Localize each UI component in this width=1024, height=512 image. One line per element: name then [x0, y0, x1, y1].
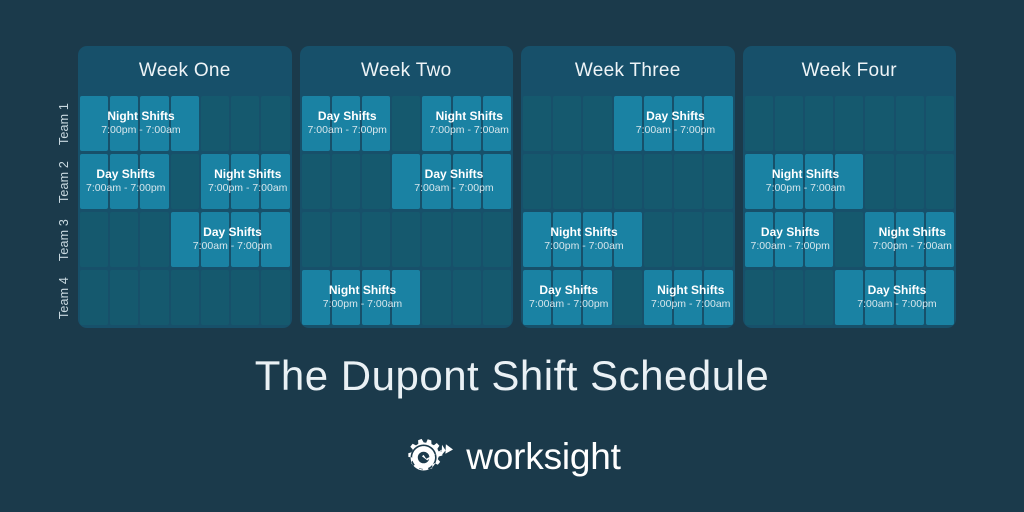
day-cell-4-off[interactable] [835, 96, 863, 151]
day-cell-4-off[interactable] [171, 270, 199, 325]
day-cell-1-off[interactable] [523, 96, 551, 151]
brand-logo: worksight [0, 432, 1024, 481]
day-cell-2-off[interactable] [332, 212, 360, 267]
day-cell-3-night[interactable] [140, 96, 168, 151]
day-cell-5-day[interactable] [644, 96, 672, 151]
day-cell-3-day[interactable] [583, 270, 611, 325]
day-cell-4-off[interactable] [392, 212, 420, 267]
day-cell-2-off[interactable] [775, 270, 803, 325]
day-cell-4-day[interactable] [171, 212, 199, 267]
team-label-1: Team 1 [57, 94, 71, 154]
week-rows: Day Shifts7:00am - 7:00pmNight Shifts7:0… [300, 96, 514, 328]
day-cell-2-off[interactable] [553, 154, 581, 209]
day-cell-3-night[interactable] [583, 212, 611, 267]
day-cell-6-night[interactable] [896, 212, 924, 267]
day-cell-7-day[interactable] [261, 212, 289, 267]
day-cell-6-night[interactable] [231, 154, 259, 209]
week-title: Week Two [300, 46, 514, 96]
day-cell-6-off[interactable] [453, 270, 481, 325]
day-cell-2-off[interactable] [553, 96, 581, 151]
day-cell-2-off[interactable] [110, 212, 138, 267]
day-cell-1-night[interactable] [745, 154, 773, 209]
day-cell-5-day[interactable] [422, 154, 450, 209]
day-cell-3-day[interactable] [140, 154, 168, 209]
team-row: Night Shifts7:00pm - 7:00am [78, 96, 292, 151]
day-cell-7-day[interactable] [704, 96, 732, 151]
day-cell-5-off[interactable] [865, 96, 893, 151]
day-cell-4-off[interactable] [614, 270, 642, 325]
day-cell-3-night[interactable] [362, 270, 390, 325]
day-cell-6-day[interactable] [231, 212, 259, 267]
day-cell-1-off[interactable] [745, 270, 773, 325]
day-cell-5-off[interactable] [865, 154, 893, 209]
week-panel-1[interactable]: Week OneNight Shifts7:00pm - 7:00amDay S… [78, 46, 292, 328]
day-cell-7-off[interactable] [926, 154, 954, 209]
day-cell-6-off[interactable] [674, 212, 702, 267]
week-panel-3[interactable]: Week ThreeDay Shifts7:00am - 7:00pmNight… [521, 46, 735, 328]
day-cell-7-off[interactable] [483, 270, 511, 325]
day-cell-2-night[interactable] [553, 212, 581, 267]
day-cell-6-night[interactable] [674, 270, 702, 325]
day-cell-1-night[interactable] [523, 212, 551, 267]
day-cell-7-day[interactable] [926, 270, 954, 325]
team-row [78, 270, 292, 325]
day-cell-1-day[interactable] [80, 154, 108, 209]
day-cell-1-off[interactable] [80, 212, 108, 267]
day-cell-7-off[interactable] [261, 270, 289, 325]
day-cell-6-off[interactable] [896, 96, 924, 151]
day-cell-3-off[interactable] [140, 212, 168, 267]
team-label-3: Team 3 [57, 210, 71, 270]
team-row: Night Shifts7:00pm - 7:00am [521, 212, 735, 267]
day-cell-2-night[interactable] [775, 154, 803, 209]
day-cell-5-off[interactable] [644, 212, 672, 267]
day-cell-3-off[interactable] [362, 154, 390, 209]
team-row: Day Shifts7:00am - 7:00pm [743, 270, 957, 325]
day-cell-4-night[interactable] [171, 96, 199, 151]
team-row: Day Shifts7:00am - 7:00pm [300, 154, 514, 209]
team-row: Day Shifts7:00am - 7:00pmNight Shifts7:0… [521, 270, 735, 325]
week-panels-container: Week OneNight Shifts7:00pm - 7:00amDay S… [78, 46, 956, 328]
day-cell-1-off[interactable] [80, 270, 108, 325]
week-panel-2[interactable]: Week TwoDay Shifts7:00am - 7:00pmNight S… [300, 46, 514, 328]
team-row: Night Shifts7:00pm - 7:00am [743, 154, 957, 209]
day-cell-2-night[interactable] [110, 96, 138, 151]
day-cell-7-off[interactable] [704, 212, 732, 267]
day-cell-1-off[interactable] [302, 212, 330, 267]
gear-arrow-icon [403, 432, 455, 481]
day-cell-6-off[interactable] [231, 96, 259, 151]
day-cell-5-off[interactable] [201, 96, 229, 151]
day-cell-5-day[interactable] [201, 212, 229, 267]
team-row: Day Shifts7:00am - 7:00pmNight Shifts7:0… [300, 96, 514, 151]
day-cell-6-day[interactable] [674, 96, 702, 151]
day-cell-6-night[interactable] [453, 96, 481, 151]
team-row: Day Shifts7:00am - 7:00pmNight Shifts7:0… [743, 212, 957, 267]
team-label-4: Team 4 [57, 268, 71, 328]
day-cell-1-night[interactable] [302, 270, 330, 325]
day-cell-6-off[interactable] [453, 212, 481, 267]
day-cell-4-off[interactable] [171, 154, 199, 209]
day-cell-7-night[interactable] [926, 212, 954, 267]
day-cell-6-off[interactable] [674, 154, 702, 209]
day-cell-5-night[interactable] [865, 212, 893, 267]
day-cell-3-off[interactable] [140, 270, 168, 325]
week-rows: Night Shifts7:00pm - 7:00amDay Shifts7:0… [743, 96, 957, 328]
day-cell-4-day[interactable] [392, 154, 420, 209]
day-cell-3-night[interactable] [805, 154, 833, 209]
day-cell-3-off[interactable] [805, 270, 833, 325]
day-cell-3-day[interactable] [805, 212, 833, 267]
day-cell-7-night[interactable] [704, 270, 732, 325]
team-row: Day Shifts7:00am - 7:00pmNight Shifts7:0… [78, 154, 292, 209]
day-cell-7-off[interactable] [261, 96, 289, 151]
team-row [743, 96, 957, 151]
day-cell-1-off[interactable] [745, 96, 773, 151]
day-cell-5-off[interactable] [422, 270, 450, 325]
day-cell-2-off[interactable] [110, 270, 138, 325]
week-title: Week One [78, 46, 292, 96]
day-cell-4-day[interactable] [614, 96, 642, 151]
shift-schedule-board: Team 1Team 2Team 3Team 4 Week OneNight S… [50, 46, 956, 328]
day-cell-7-off[interactable] [704, 154, 732, 209]
day-cell-4-night[interactable] [392, 270, 420, 325]
day-cell-2-off[interactable] [775, 96, 803, 151]
page-title: The Dupont Shift Schedule [0, 352, 1024, 400]
day-cell-2-day[interactable] [332, 96, 360, 151]
day-cell-5-night[interactable] [644, 270, 672, 325]
day-cell-1-off[interactable] [523, 154, 551, 209]
day-cell-5-night[interactable] [422, 96, 450, 151]
team-row [300, 212, 514, 267]
team-labels-gutter: Team 1Team 2Team 3Team 4 [50, 46, 78, 328]
day-cell-1-day[interactable] [302, 96, 330, 151]
day-cell-7-night[interactable] [261, 154, 289, 209]
day-cell-1-day[interactable] [745, 212, 773, 267]
day-cell-6-day[interactable] [896, 270, 924, 325]
week-panel-4[interactable]: Week FourNight Shifts7:00pm - 7:00amDay … [743, 46, 957, 328]
day-cell-3-day[interactable] [362, 96, 390, 151]
day-cell-1-off[interactable] [302, 154, 330, 209]
day-cell-2-night[interactable] [332, 270, 360, 325]
day-cell-2-day[interactable] [110, 154, 138, 209]
week-rows: Day Shifts7:00am - 7:00pmNight Shifts7:0… [521, 96, 735, 328]
day-cell-3-off[interactable] [583, 96, 611, 151]
day-cell-5-day[interactable] [865, 270, 893, 325]
day-cell-2-day[interactable] [553, 270, 581, 325]
day-cell-1-night[interactable] [80, 96, 108, 151]
day-cell-3-off[interactable] [362, 212, 390, 267]
day-cell-5-off[interactable] [644, 154, 672, 209]
day-cell-2-off[interactable] [332, 154, 360, 209]
day-cell-6-off[interactable] [231, 270, 259, 325]
day-cell-3-off[interactable] [805, 96, 833, 151]
team-row: Day Shifts7:00am - 7:00pm [521, 96, 735, 151]
day-cell-4-day[interactable] [835, 270, 863, 325]
week-title: Week Four [743, 46, 957, 96]
day-cell-6-off[interactable] [896, 154, 924, 209]
week-rows: Night Shifts7:00pm - 7:00amDay Shifts7:0… [78, 96, 292, 328]
day-cell-6-day[interactable] [453, 154, 481, 209]
week-title: Week Three [521, 46, 735, 96]
day-cell-5-off[interactable] [422, 212, 450, 267]
day-cell-4-off[interactable] [614, 154, 642, 209]
day-cell-7-off[interactable] [483, 212, 511, 267]
day-cell-4-night[interactable] [614, 212, 642, 267]
team-label-2: Team 2 [57, 152, 71, 212]
day-cell-2-day[interactable] [775, 212, 803, 267]
team-row: Night Shifts7:00pm - 7:00am [300, 270, 514, 325]
day-cell-5-off[interactable] [201, 270, 229, 325]
day-cell-4-off[interactable] [392, 96, 420, 151]
day-cell-1-day[interactable] [523, 270, 551, 325]
day-cell-7-night[interactable] [483, 96, 511, 151]
day-cell-7-off[interactable] [926, 96, 954, 151]
team-row: Day Shifts7:00am - 7:00pm [78, 212, 292, 267]
day-cell-4-off[interactable] [835, 212, 863, 267]
day-cell-3-off[interactable] [583, 154, 611, 209]
team-row [521, 154, 735, 209]
brand-name: worksight [466, 438, 620, 475]
day-cell-4-night[interactable] [835, 154, 863, 209]
day-cell-5-night[interactable] [201, 154, 229, 209]
day-cell-7-day[interactable] [483, 154, 511, 209]
